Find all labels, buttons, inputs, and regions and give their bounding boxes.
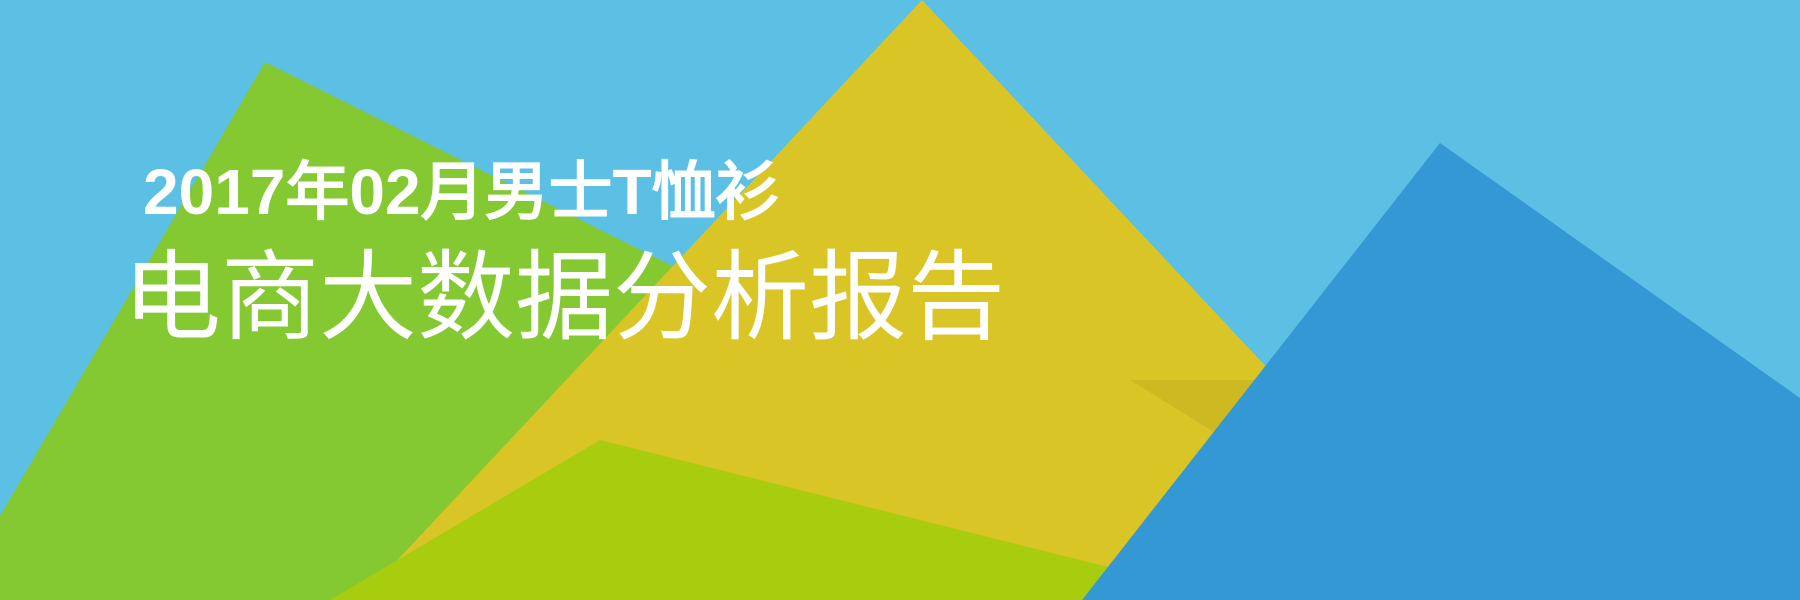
report-cover-banner: 2017年02月男士T恤衫 电商大数据分析报告 bbox=[0, 0, 1800, 600]
background-geometric-artwork bbox=[0, 0, 1800, 600]
